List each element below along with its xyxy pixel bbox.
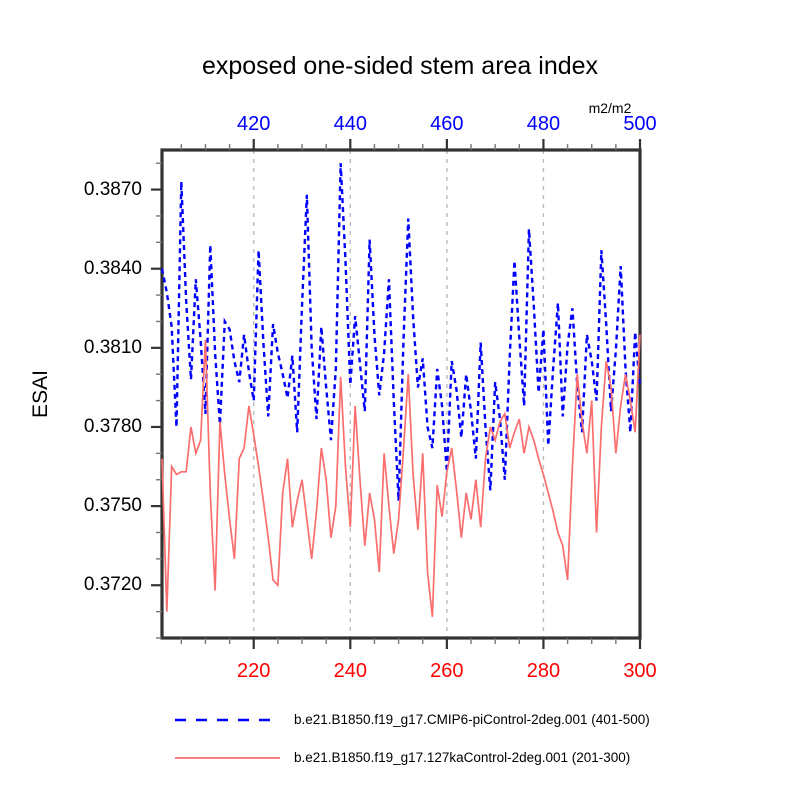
legend-label: b.e21.B1850.f19_g17.127kaControl-2deg.00… bbox=[294, 750, 630, 765]
chart-page: exposed one-sided stem area index m2/m2 … bbox=[0, 0, 800, 800]
gridline-layer bbox=[254, 150, 544, 638]
plot-canvas bbox=[0, 0, 800, 800]
series-line-1 bbox=[162, 163, 640, 501]
legend-label: b.e21.B1850.f19_g17.CMIP6-piControl-2deg… bbox=[294, 712, 650, 727]
series-line-2 bbox=[162, 335, 640, 617]
data-series-layer bbox=[162, 163, 640, 617]
legend-layer bbox=[175, 720, 280, 758]
